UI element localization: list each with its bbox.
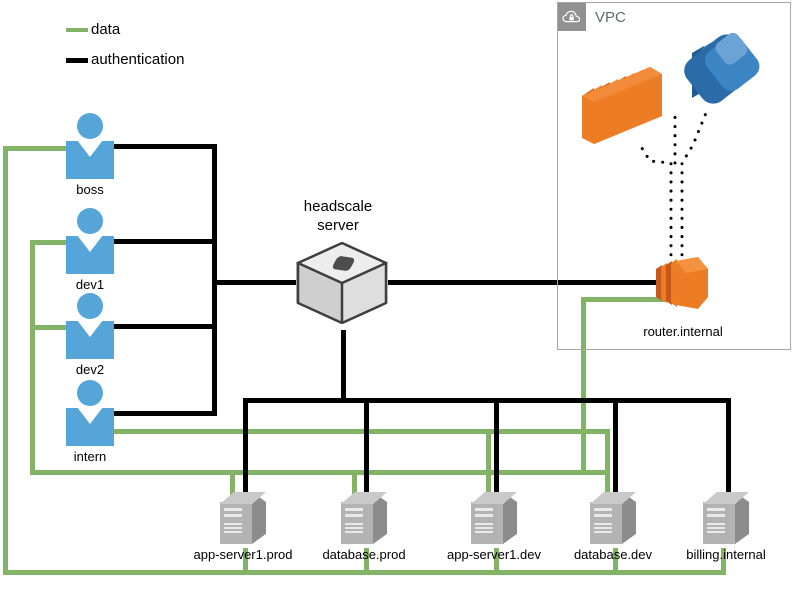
data-line-left-trunk bbox=[3, 146, 8, 573]
auth-line-drop-app-server1-dev bbox=[494, 398, 499, 496]
server-slot bbox=[594, 514, 612, 517]
node-server-database-prod[interactable]: database.prod bbox=[341, 492, 387, 562]
server-slot bbox=[707, 527, 725, 529]
user-head-icon bbox=[77, 293, 103, 319]
aws-database-stack-icon[interactable] bbox=[680, 29, 775, 134]
server-slot bbox=[475, 527, 493, 529]
server-slot bbox=[594, 523, 612, 525]
cube-outline-icon bbox=[296, 242, 388, 324]
server-front-face bbox=[220, 502, 252, 544]
headscale-title: headscale server bbox=[268, 197, 408, 235]
node-label-billing-internal: billing.internal bbox=[656, 547, 792, 562]
aws-instance-stack-icon[interactable] bbox=[574, 58, 676, 148]
line-swatch-black-icon bbox=[66, 58, 88, 63]
node-server-database-dev[interactable]: database.dev bbox=[590, 492, 636, 562]
server-slot bbox=[345, 523, 363, 525]
server-front-face bbox=[341, 502, 373, 544]
auth-line-dev2 bbox=[112, 324, 217, 329]
auth-line-dev1 bbox=[112, 239, 217, 244]
server-icon bbox=[220, 492, 266, 544]
server-side-face bbox=[252, 502, 266, 544]
legend-item-authentication: authentication bbox=[66, 51, 184, 69]
server-slot bbox=[345, 527, 363, 529]
server-slot bbox=[475, 514, 493, 517]
server-slot bbox=[224, 514, 242, 517]
server-slot bbox=[475, 523, 493, 525]
auth-line-drop-database-dev bbox=[613, 398, 618, 496]
server-front-face bbox=[590, 502, 622, 544]
server-side-face bbox=[503, 502, 517, 544]
data-line-intern bbox=[110, 429, 610, 434]
server-slot bbox=[594, 508, 612, 511]
server-slot bbox=[224, 508, 242, 511]
node-label-app-server1-prod: app-server1.prod bbox=[173, 547, 313, 562]
headscale-title-line2: server bbox=[268, 216, 408, 235]
diagram-canvas: data authentication bbox=[0, 0, 792, 593]
server-slot bbox=[475, 508, 493, 511]
auth-line-server-bus bbox=[243, 398, 731, 403]
server-icon bbox=[703, 492, 749, 544]
node-headscale-server[interactable] bbox=[296, 242, 388, 324]
line-swatch-green-icon bbox=[66, 28, 88, 32]
node-server-app-server1-prod[interactable]: app-server1.prod bbox=[220, 492, 266, 562]
auth-line-drop-billing-internal bbox=[726, 398, 731, 496]
server-slot bbox=[345, 508, 363, 511]
server-slot bbox=[345, 514, 363, 517]
auth-line-drop-database-prod bbox=[364, 398, 369, 496]
auth-line-boss bbox=[112, 144, 217, 149]
server-icon bbox=[471, 492, 517, 544]
auth-line-headscale-down bbox=[341, 330, 346, 400]
user-head-icon bbox=[77, 380, 103, 406]
server-side-face bbox=[373, 502, 387, 544]
vpc-container: VPC bbox=[557, 2, 791, 350]
node-user-boss[interactable]: boss bbox=[66, 113, 114, 197]
node-server-app-server1-dev[interactable]: app-server1.dev bbox=[471, 492, 517, 562]
server-slot bbox=[707, 514, 725, 517]
user-body-icon bbox=[66, 321, 114, 359]
headscale-title-line1: headscale bbox=[268, 197, 408, 216]
user-head-icon bbox=[77, 208, 103, 234]
node-user-intern[interactable]: intern bbox=[66, 380, 114, 464]
server-slot bbox=[475, 531, 493, 533]
user-body-icon bbox=[66, 408, 114, 446]
user-body-icon bbox=[66, 141, 114, 179]
aws-router-hex-icon[interactable] bbox=[652, 253, 712, 315]
user-head-icon bbox=[77, 113, 103, 139]
server-side-face bbox=[735, 502, 749, 544]
legend-label-authentication: authentication bbox=[91, 51, 184, 69]
server-icon bbox=[341, 492, 387, 544]
server-slot bbox=[224, 523, 242, 525]
node-label-dev1: dev1 bbox=[66, 277, 114, 292]
data-line-dev-trunk bbox=[30, 240, 35, 472]
server-slot bbox=[224, 527, 242, 529]
legend-label-data: data bbox=[91, 21, 120, 39]
node-label-dev2: dev2 bbox=[66, 362, 114, 377]
data-line-appserver1dev-up bbox=[486, 429, 491, 475]
node-label-database-prod: database.prod bbox=[294, 547, 434, 562]
node-server-billing-internal[interactable]: billing.internal bbox=[703, 492, 749, 562]
data-line-lower-bus bbox=[30, 470, 610, 475]
server-slot bbox=[594, 527, 612, 529]
node-label-boss: boss bbox=[66, 182, 114, 197]
server-front-face bbox=[703, 502, 735, 544]
server-slot bbox=[224, 531, 242, 533]
node-label-intern: intern bbox=[66, 449, 114, 464]
server-slot bbox=[594, 531, 612, 533]
node-user-dev1[interactable]: dev1 bbox=[66, 208, 114, 292]
server-slot bbox=[707, 523, 725, 525]
server-slot bbox=[345, 531, 363, 533]
auth-line-intern bbox=[112, 411, 217, 416]
server-icon bbox=[590, 492, 636, 544]
node-user-dev2[interactable]: dev2 bbox=[66, 293, 114, 377]
legend-item-data: data bbox=[66, 21, 120, 39]
data-line-intern-down bbox=[605, 429, 610, 475]
server-front-face bbox=[471, 502, 503, 544]
user-body-icon bbox=[66, 236, 114, 274]
server-side-face bbox=[622, 502, 636, 544]
node-label-router-internal: router.internal bbox=[613, 324, 753, 339]
server-slot bbox=[707, 508, 725, 511]
auth-line-drop-app-server1-prod bbox=[243, 398, 248, 496]
server-slot bbox=[707, 531, 725, 533]
